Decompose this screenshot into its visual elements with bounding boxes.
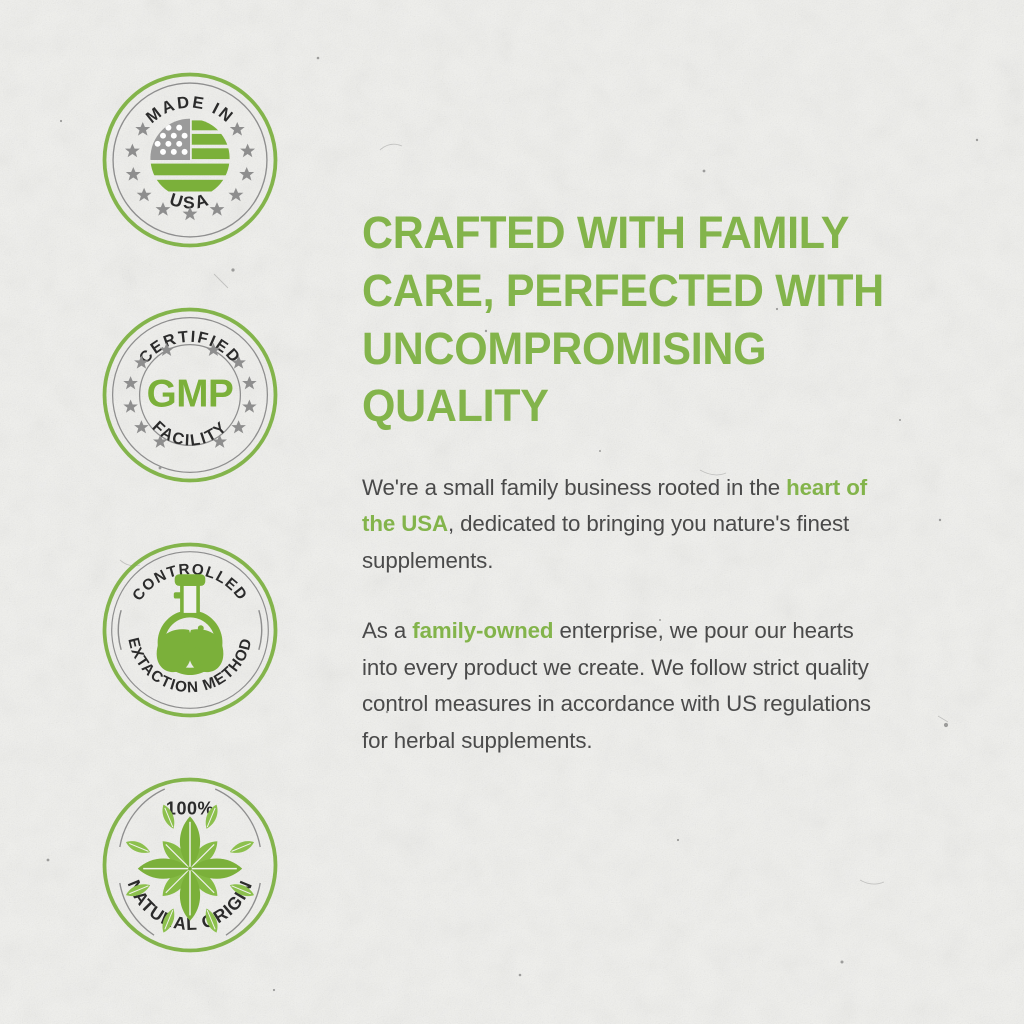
badge-top-arc-text: 100% <box>166 799 214 819</box>
badge-controlled-extraction-method: CONTROLLED EXTACTION METHOD <box>100 540 280 720</box>
content-column: CRAFTED WITH FAMILY CARE, PERFECTED WITH… <box>362 0 1024 1024</box>
paragraph-one: We're a small family business rooted in … <box>362 470 877 579</box>
paragraph-two-highlight: family-owned <box>412 618 553 643</box>
gmp-text-icon: GMP <box>147 373 234 416</box>
badge-made-in-usa: MADE IN USA <box>100 70 280 250</box>
badge-top-arc-text: MADE IN <box>142 92 238 127</box>
badge-top-arc-text: CERTIFIED <box>136 328 245 368</box>
badge-natural-origin: 100% NATURAL ORIGIN <box>100 775 280 955</box>
page-title: CRAFTED WITH FAMILY CARE, PERFECTED WITH… <box>362 204 897 435</box>
flask-with-leaves-icon <box>157 574 224 675</box>
usa-flag-circle-icon <box>147 119 233 192</box>
paragraph-two: As a family-owned enterprise, we pour ou… <box>362 613 877 759</box>
badge-gmp-certified-facility: CERTIFIED FACILITY <box>100 305 280 485</box>
certification-badge-column: MADE IN USA <box>0 0 362 1024</box>
paragraph-one-part-one: We're a small family business rooted in … <box>362 475 786 500</box>
paragraph-two-part-one: As a <box>362 618 412 643</box>
body-copy: We're a small family business rooted in … <box>362 470 882 759</box>
